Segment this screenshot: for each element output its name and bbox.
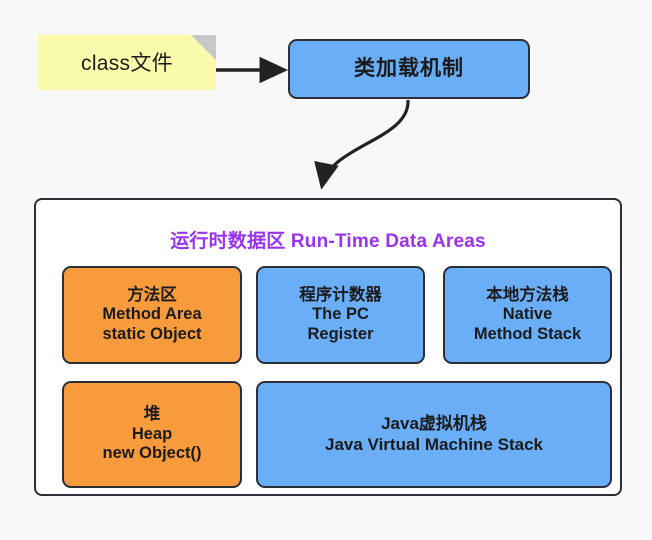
- method-area-line-2: Method Area: [102, 305, 201, 324]
- pc-register-line-2: The PC: [312, 305, 369, 324]
- arrow-classloader-to-runtime: [322, 100, 408, 186]
- jvm-stack-line-1: Java虚拟机栈: [381, 414, 487, 434]
- classloader-box[interactable]: 类加载机制: [288, 39, 530, 99]
- jvm-stack-box[interactable]: Java虚拟机栈 Java Virtual Machine Stack: [256, 381, 612, 488]
- heap-line-1: 堆: [144, 405, 161, 424]
- classloader-label: 类加载机制: [354, 57, 464, 82]
- runtime-data-areas-title: 运行时数据区 Run-Time Data Areas: [36, 226, 620, 253]
- class-file-note: class文件: [38, 35, 216, 90]
- page-fold-corner-icon: [191, 35, 216, 60]
- class-file-label: class文件: [38, 35, 216, 90]
- heap-line-3: new Object(): [102, 444, 201, 463]
- native-method-stack-line-3: Method Stack: [474, 325, 581, 344]
- native-method-stack-box[interactable]: 本地方法栈 Native Method Stack: [443, 266, 612, 364]
- heap-box[interactable]: 堆 Heap new Object(): [62, 381, 242, 488]
- method-area-box[interactable]: 方法区 Method Area static Object: [62, 266, 242, 364]
- pc-register-line-1: 程序计数器: [299, 286, 382, 305]
- method-area-line-1: 方法区: [127, 286, 177, 305]
- native-method-stack-line-1: 本地方法栈: [486, 286, 569, 305]
- method-area-line-3: static Object: [102, 325, 201, 344]
- pc-register-box[interactable]: 程序计数器 The PC Register: [256, 266, 425, 364]
- pc-register-line-3: Register: [307, 325, 373, 344]
- jvm-stack-line-2: Java Virtual Machine Stack: [325, 435, 543, 455]
- native-method-stack-line-2: Native: [503, 305, 553, 324]
- heap-line-2: Heap: [132, 425, 172, 444]
- diagram-canvas: class文件 类加载机制 运行时数据区 Run-Time Data Areas…: [0, 0, 652, 540]
